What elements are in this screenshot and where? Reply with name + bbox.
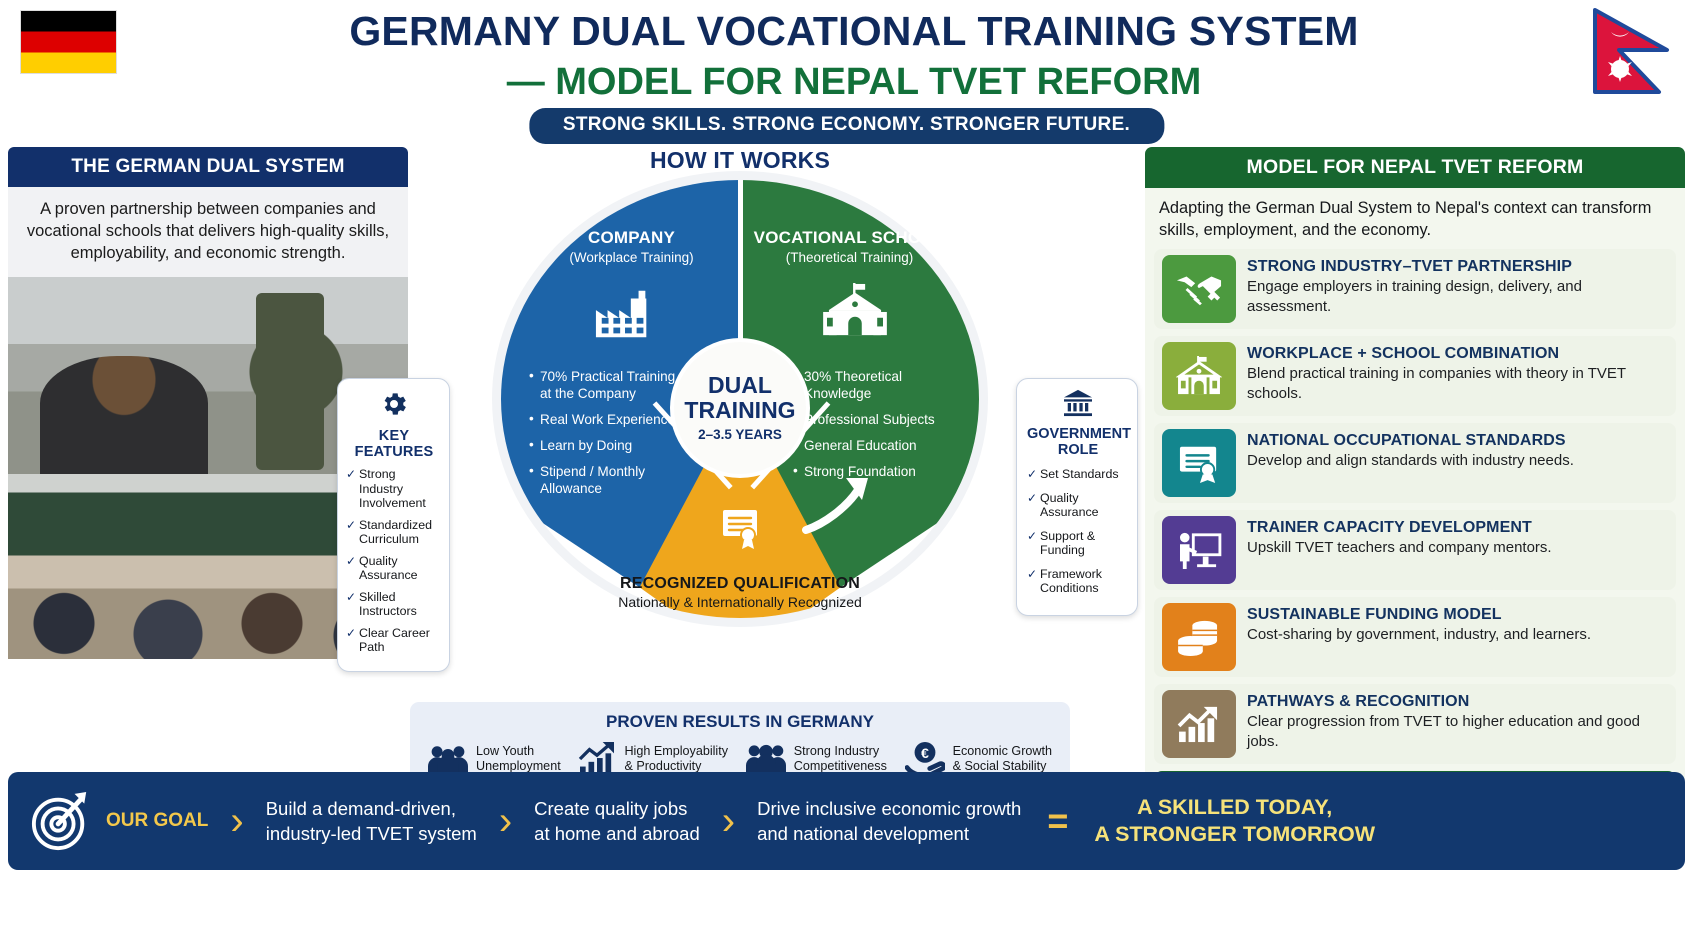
bullet-item: Real Work Experience xyxy=(529,411,689,428)
left-panel-text: A proven partnership between companies a… xyxy=(8,187,408,277)
infographic-root: GERMANY DUAL VOCATIONAL TRAINING SYSTEM … xyxy=(0,0,1693,929)
reform-body: Upskill TVET teachers and company mentor… xyxy=(1247,538,1552,558)
check-icon: ✓ xyxy=(346,518,356,533)
certificate-award-icon xyxy=(1162,429,1236,497)
bullet-item: Learn by Doing xyxy=(529,437,689,454)
page-title-line2: — MODEL FOR NEPAL TVET REFORM xyxy=(130,58,1578,106)
check-icon: ✓ xyxy=(346,590,356,605)
reform-item: WORKPLACE + SCHOOL COMBINATION Blend pra… xyxy=(1154,336,1676,416)
reform-heading: TRAINER CAPACITY DEVELOPMENT xyxy=(1247,519,1552,537)
goal-outcome: A SKILLED TODAY, A STRONGER TOMORROW xyxy=(1094,794,1375,848)
reform-text: STRONG INDUSTRY–TVET PARTNERSHIP Engage … xyxy=(1247,255,1668,316)
header-titles: GERMANY DUAL VOCATIONAL TRAINING SYSTEM … xyxy=(130,4,1578,106)
check-icon: ✓ xyxy=(346,554,356,569)
center-panel: HOW IT WORKS COMPANY (Workplace Training… xyxy=(410,147,1070,618)
result-text: High Employability & Productivity xyxy=(624,744,728,774)
reform-body: Cost-sharing by government, industry, an… xyxy=(1247,625,1591,645)
bank-icon xyxy=(1027,389,1129,422)
chevron-right-icon: › xyxy=(499,801,512,841)
bullet-item: Stipend / Monthly Allowance xyxy=(529,463,689,497)
company-label: COMPANY (Workplace Training) xyxy=(539,228,724,265)
growth-arrow-icon xyxy=(1162,690,1236,758)
reform-item: NATIONAL OCCUPATIONAL STANDARDS Develop … xyxy=(1154,423,1676,503)
target-dart-icon xyxy=(30,790,92,852)
result-text: Economic Growth & Social Stability xyxy=(953,744,1052,774)
trainer-whiteboard-icon xyxy=(1162,516,1236,584)
check-icon: ✓ xyxy=(1027,467,1037,482)
school-label: VOCATIONAL SCHOOL (Theoretical Training) xyxy=(752,228,947,265)
check-icon: ✓ xyxy=(1027,529,1037,544)
goal-step: Drive inclusive economic growth and nati… xyxy=(757,796,1021,846)
certificate-icon xyxy=(720,508,760,550)
coins-stack-icon xyxy=(1162,603,1236,671)
government-role-title: GOVERNMENT ROLE xyxy=(1027,426,1129,458)
arrow-school-to-qualification-icon xyxy=(802,474,874,536)
tagline-ribbon: STRONG SKILLS. STRONG ECONOMY. STRONGER … xyxy=(529,108,1164,144)
school-building-icon xyxy=(1162,342,1236,410)
right-panel-intro: Adapting the German Dual System to Nepal… xyxy=(1145,188,1685,249)
industry-people-icon xyxy=(746,742,786,776)
right-panel-title: MODEL FOR NEPAL TVET REFORM xyxy=(1145,147,1685,188)
left-panel-title: THE GERMAN DUAL SYSTEM xyxy=(8,147,408,187)
reform-text: TRAINER CAPACITY DEVELOPMENT Upskill TVE… xyxy=(1247,516,1552,558)
government-role-card: GOVERNMENT ROLE ✓Set Standards ✓Quality … xyxy=(1016,378,1138,616)
chevron-right-icon: › xyxy=(722,801,735,841)
reform-heading: NATIONAL OCCUPATIONAL STANDARDS xyxy=(1247,432,1574,450)
people-group-icon xyxy=(428,743,468,775)
chevron-right-icon: › xyxy=(230,801,243,841)
svg-text:€: € xyxy=(921,746,929,762)
reform-item: PATHWAYS & RECOGNITION Clear progression… xyxy=(1154,684,1676,764)
reform-body: Engage employers in training design, del… xyxy=(1247,277,1668,316)
dual-training-hub: DUAL TRAINING 2–3.5 YEARS xyxy=(674,342,806,474)
government-role-item: ✓Quality Assurance xyxy=(1027,491,1129,520)
page-title-line1: GERMANY DUAL VOCATIONAL TRAINING SYSTEM xyxy=(130,4,1578,58)
government-role-item: ✓Framework Conditions xyxy=(1027,567,1129,596)
bottom-goal-banner: OUR GOAL › Build a demand-driven, indust… xyxy=(8,772,1685,870)
bullet-item: General Education xyxy=(793,437,953,454)
proven-results-title: PROVEN RESULTS IN GERMANY xyxy=(422,712,1058,732)
check-icon: ✓ xyxy=(1027,491,1037,506)
reform-text: PATHWAYS & RECOGNITION Clear progression… xyxy=(1247,690,1668,751)
equals-sign: = xyxy=(1047,803,1068,839)
check-icon: ✓ xyxy=(1027,567,1037,582)
reform-body: Develop and align standards with industr… xyxy=(1247,451,1574,471)
goal-step: Create quality jobs at home and abroad xyxy=(534,796,700,846)
reform-heading: WORKPLACE + SCHOOL COMBINATION xyxy=(1247,345,1668,363)
reform-body: Blend practical training in companies wi… xyxy=(1247,364,1668,403)
reform-item: STRONG INDUSTRY–TVET PARTNERSHIP Engage … xyxy=(1154,249,1676,329)
key-feature-item: ✓Clear Career Path xyxy=(346,626,442,655)
government-role-item: ✓Set Standards xyxy=(1027,467,1129,482)
reform-item: TRAINER CAPACITY DEVELOPMENT Upskill TVE… xyxy=(1154,510,1676,590)
result-text: Strong Industry Competitiveness xyxy=(794,744,887,774)
result-text: Low Youth Unemployment xyxy=(476,744,561,774)
reform-item: SUSTAINABLE FUNDING MODEL Cost-sharing b… xyxy=(1154,597,1676,677)
header: GERMANY DUAL VOCATIONAL TRAINING SYSTEM … xyxy=(0,0,1693,142)
reform-heading: STRONG INDUSTRY–TVET PARTNERSHIP xyxy=(1247,258,1668,276)
bullet-item: Professional Subjects xyxy=(793,411,953,428)
company-bullets: 70% Practical Training at the Company Re… xyxy=(529,368,689,506)
reform-text: SUSTAINABLE FUNDING MODEL Cost-sharing b… xyxy=(1247,603,1591,645)
bullet-item: 70% Practical Training at the Company xyxy=(529,368,689,402)
school-bullets: 30% Theoretical Knowledge Professional S… xyxy=(793,368,953,489)
reform-heading: PATHWAYS & RECOGNITION xyxy=(1247,693,1668,711)
how-it-works-title: HOW IT WORKS xyxy=(410,147,1070,174)
bullet-item: 30% Theoretical Knowledge xyxy=(793,368,953,402)
dual-training-wheel: COMPANY (Workplace Training) VOCATIONAL … xyxy=(501,180,979,618)
reform-text: WORKPLACE + SCHOOL COMBINATION Blend pra… xyxy=(1247,342,1668,403)
check-icon: ✓ xyxy=(346,626,356,641)
check-icon: ✓ xyxy=(346,467,356,482)
nepal-flag-icon xyxy=(1589,6,1675,110)
growth-bar-chart-icon xyxy=(578,742,616,776)
reform-body: Clear progression from TVET to higher ed… xyxy=(1247,712,1668,751)
government-role-item: ✓Support & Funding xyxy=(1027,529,1129,558)
goal-step: Build a demand-driven, industry-led TVET… xyxy=(266,796,477,846)
germany-flag-icon xyxy=(20,10,117,74)
factory-icon xyxy=(594,288,656,345)
goal-label: OUR GOAL xyxy=(106,810,208,832)
right-panel: MODEL FOR NEPAL TVET REFORM Adapting the… xyxy=(1145,147,1685,836)
recognized-qualification: RECOGNIZED QUALIFICATION Nationally & In… xyxy=(501,575,979,610)
handshake-icon xyxy=(1162,255,1236,323)
reform-text: NATIONAL OCCUPATIONAL STANDARDS Develop … xyxy=(1247,429,1574,471)
reform-heading: SUSTAINABLE FUNDING MODEL xyxy=(1247,606,1591,624)
school-icon xyxy=(823,283,887,344)
